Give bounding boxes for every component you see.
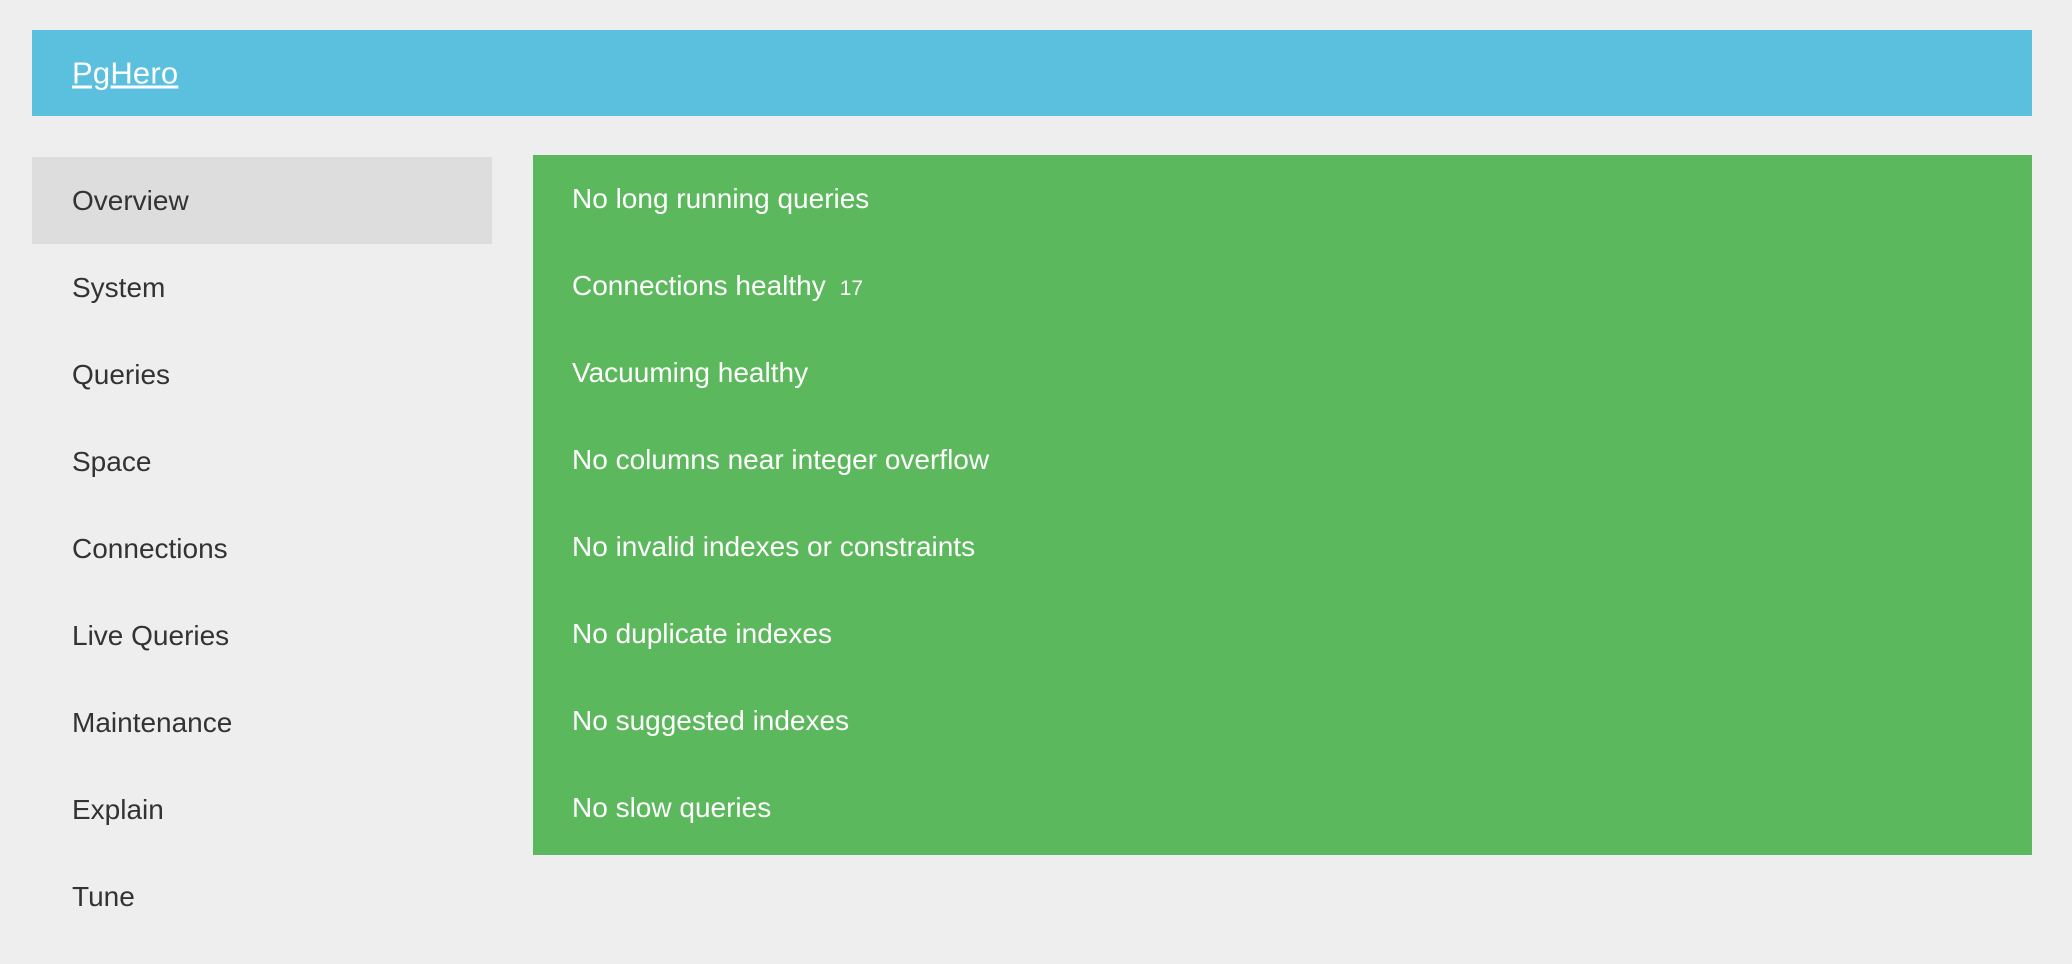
sidebar-item-connections[interactable]: Connections	[32, 505, 492, 592]
status-label: No long running queries	[572, 183, 869, 214]
status-label: No slow queries	[572, 792, 771, 823]
status-list: No long running queries Connections heal…	[533, 155, 2032, 851]
status-item-invalid-indexes: No invalid indexes or constraints	[533, 503, 2032, 590]
status-item-vacuuming: Vacuuming healthy	[533, 329, 2032, 416]
status-label: Vacuuming healthy	[572, 357, 808, 388]
sidebar-item-system[interactable]: System	[32, 244, 492, 331]
status-item-slow-queries: No slow queries	[533, 764, 2032, 851]
sidebar-item-live-queries[interactable]: Live Queries	[32, 592, 492, 679]
status-label: No duplicate indexes	[572, 618, 832, 649]
status-count: 17	[840, 277, 863, 300]
status-item-integer-overflow: No columns near integer overflow	[533, 416, 2032, 503]
status-label: No suggested indexes	[572, 705, 849, 736]
app-root: PgHero Overview System Queries Space Con…	[0, 0, 2072, 964]
brand-logo[interactable]: PgHero	[72, 58, 178, 89]
sidebar-item-overview[interactable]: Overview	[32, 157, 492, 244]
sidebar-item-tune[interactable]: Tune	[32, 853, 492, 940]
status-item-connections: Connections healthy17	[533, 242, 2032, 329]
status-item-long-running-queries: No long running queries	[533, 155, 2032, 242]
status-item-suggested-indexes: No suggested indexes	[533, 677, 2032, 764]
sidebar-item-space[interactable]: Space	[32, 418, 492, 505]
app-header: PgHero	[32, 30, 2032, 116]
status-label: No columns near integer overflow	[572, 444, 989, 475]
sidebar-nav: Overview System Queries Space Connection…	[32, 157, 492, 940]
sidebar-item-queries[interactable]: Queries	[32, 331, 492, 418]
status-label: No invalid indexes or constraints	[572, 531, 975, 562]
sidebar-item-maintenance[interactable]: Maintenance	[32, 679, 492, 766]
status-label: Connections healthy	[572, 270, 826, 301]
status-panel: No long running queries Connections heal…	[533, 155, 2032, 855]
status-item-duplicate-indexes: No duplicate indexes	[533, 590, 2032, 677]
sidebar-item-explain[interactable]: Explain	[32, 766, 492, 853]
